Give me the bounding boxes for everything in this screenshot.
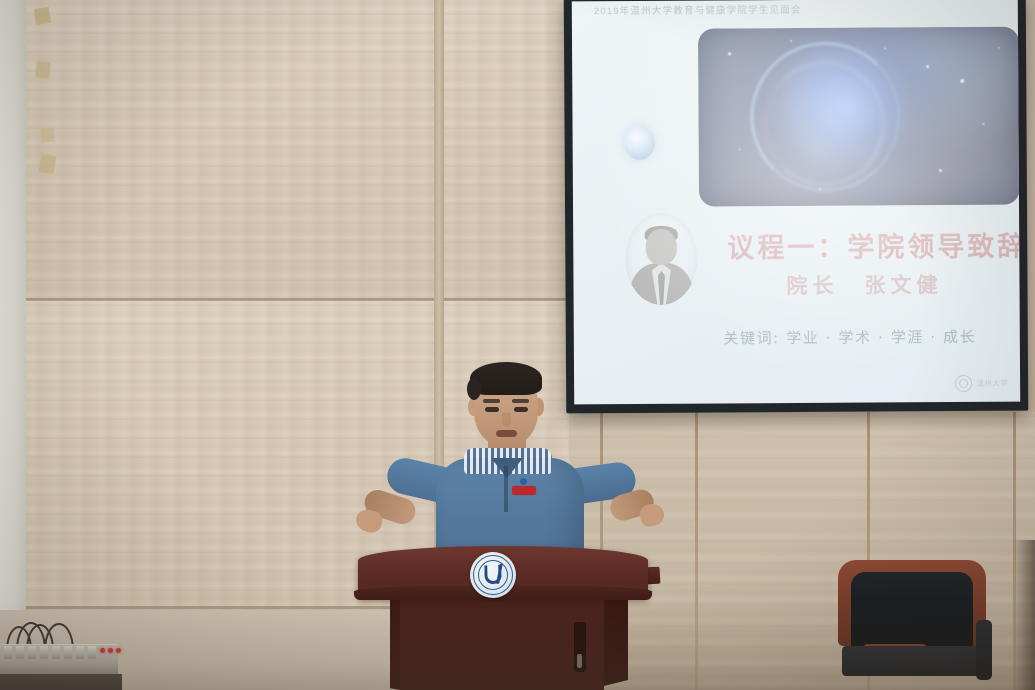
wall-panel-upper-left <box>26 0 434 300</box>
star <box>983 123 985 125</box>
star <box>819 188 821 190</box>
right-edge-shadow <box>1013 540 1035 690</box>
wall-panel-upper-right <box>444 0 569 300</box>
status-led <box>108 648 113 653</box>
nebula-inner-arc <box>764 61 885 186</box>
lecture-hall-scene: 2019年温州大学教育与健康学院学生见面会 <box>0 0 1035 690</box>
lectern-slot-highlight <box>577 654 582 668</box>
patch-jack <box>40 646 48 659</box>
slide-surface: 2019年温州大学教育与健康学院学生见面会 <box>572 0 1020 404</box>
patch-jack <box>4 646 12 659</box>
status-led <box>116 648 121 653</box>
star <box>884 47 886 49</box>
nebula-image <box>698 27 1020 207</box>
slide-header-text: 2019年温州大学教育与健康学院学生见面会 <box>594 1 998 17</box>
star <box>998 47 1000 49</box>
projection-screen: 2019年温州大学教育与健康学院学生见面会 <box>564 0 1029 413</box>
chair-seat <box>842 646 984 676</box>
lectern-side-panel <box>604 592 628 686</box>
equipment-base <box>0 674 122 690</box>
star <box>939 169 942 172</box>
status-led <box>100 648 105 653</box>
star <box>926 65 929 68</box>
slide-title: 议程一：学院领导致辞 <box>727 225 1001 266</box>
presenter-name-badge <box>512 486 536 495</box>
presenter-left-eye <box>485 407 499 412</box>
slide-keywords: 关键词: 学业 · 学术 · 学涯 · 成长 <box>694 326 1006 349</box>
left-white-wall <box>0 0 26 610</box>
star <box>790 40 792 42</box>
panel-seam <box>26 298 434 301</box>
patch-jack <box>64 646 72 659</box>
portrait-face <box>646 229 677 265</box>
presenter-nose <box>502 413 511 427</box>
plank-seam <box>695 412 698 690</box>
tape-mark <box>34 7 51 25</box>
slide-subtitle: 院长 张文健 <box>727 269 1001 301</box>
patch-jack <box>76 646 84 659</box>
patch-jack <box>16 646 24 659</box>
planet-graphic <box>625 126 655 160</box>
presenter-mouth <box>496 430 517 437</box>
tape-mark <box>39 154 57 174</box>
tape-mark <box>35 61 51 78</box>
conference-chair <box>838 560 986 690</box>
presenter-hair <box>470 362 542 395</box>
tape-mark <box>40 127 54 142</box>
patch-jack <box>28 646 36 659</box>
presenter-placket <box>504 466 508 512</box>
watermark-ring-icon <box>955 375 972 392</box>
presenter-pin-icon <box>520 478 527 485</box>
lectern <box>358 546 648 690</box>
patch-jack <box>88 646 96 659</box>
chair-backrest <box>851 572 973 648</box>
audio-patch-panel <box>0 622 122 690</box>
watermark-label: 温州大学 <box>976 378 1008 389</box>
star <box>960 79 964 83</box>
star <box>739 148 741 150</box>
university-watermark: 温州大学 <box>955 375 1008 392</box>
chair-armrest <box>976 620 992 680</box>
patch-jack <box>52 646 60 659</box>
speaker-portrait <box>625 213 698 305</box>
presenter-left-eyebrow <box>483 399 500 403</box>
panel-seam <box>444 298 569 301</box>
presenter-right-eye <box>514 407 528 412</box>
star <box>728 52 731 55</box>
presenter-right-eyebrow <box>512 399 529 403</box>
